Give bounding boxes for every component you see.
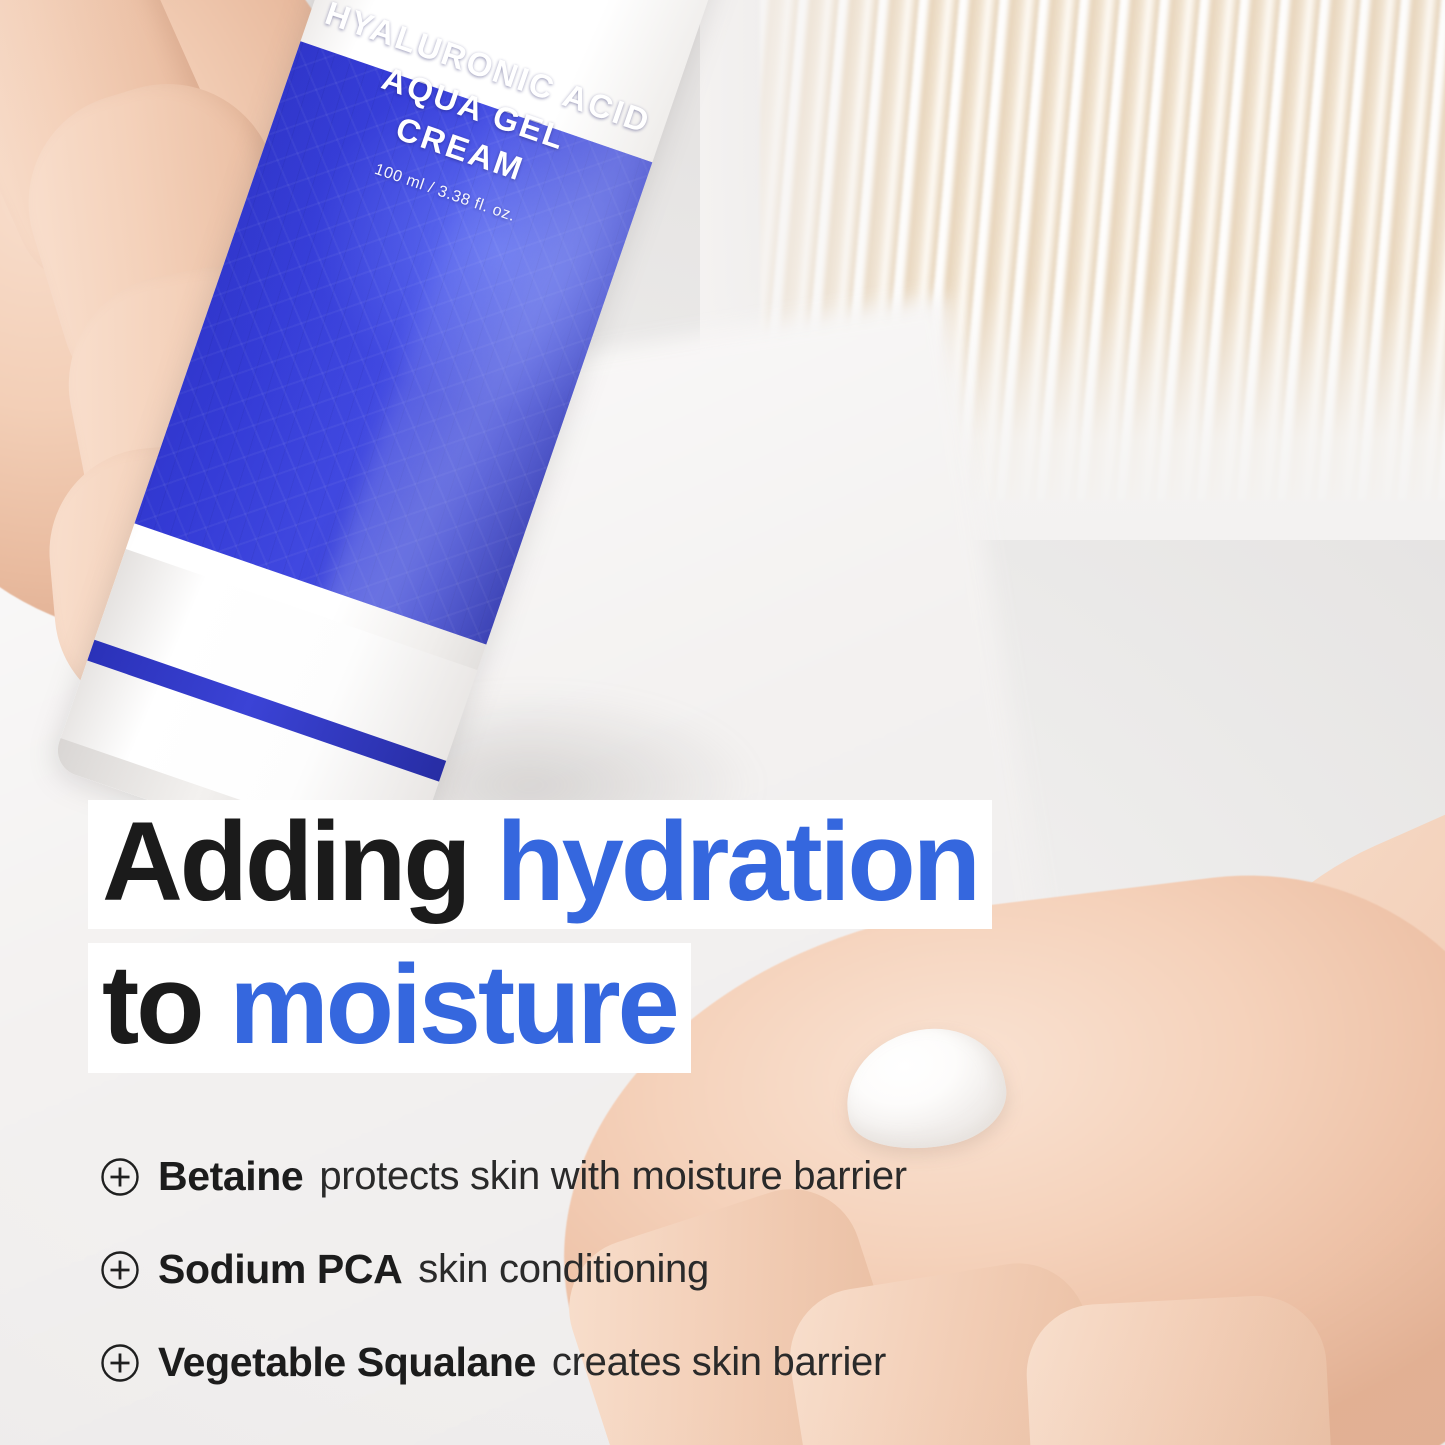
headline-word-to: to	[102, 942, 201, 1067]
headline-word-adding: Adding	[102, 799, 468, 924]
headline-line-1: Adding hydration	[88, 800, 1208, 929]
benefit-description: skin conditioning	[418, 1247, 709, 1292]
headline-line-1-highlight: Adding hydration	[88, 800, 992, 929]
benefits-list: Betaine protects skin with moisture barr…	[100, 1130, 1360, 1409]
circled-plus-icon	[100, 1250, 140, 1290]
benefit-ingredient-name: Sodium PCA	[158, 1246, 402, 1293]
product-marketing-image: HYALURONIC ACID AQUA GEL CREAM 100 ml / …	[0, 0, 1445, 1445]
headline-line-2-highlight: to moisture	[88, 943, 691, 1072]
headline-line-2: to moisture	[88, 943, 1208, 1072]
circled-plus-icon	[100, 1343, 140, 1383]
circled-plus-icon	[100, 1157, 140, 1197]
headline-word-hydration: hydration	[496, 799, 977, 924]
benefit-item: Betaine protects skin with moisture barr…	[100, 1130, 1360, 1223]
benefit-description: creates skin barrier	[552, 1340, 886, 1385]
headline: Adding hydration to moisture	[88, 800, 1208, 1073]
headline-word-moisture: moisture	[229, 942, 676, 1067]
benefit-ingredient-name: Betaine	[158, 1153, 303, 1200]
benefit-ingredient-name: Vegetable Squalane	[158, 1339, 536, 1386]
benefit-item: Sodium PCA skin conditioning	[100, 1223, 1360, 1316]
benefit-description: protects skin with moisture barrier	[319, 1154, 906, 1199]
benefit-item: Vegetable Squalane creates skin barrier	[100, 1316, 1360, 1409]
